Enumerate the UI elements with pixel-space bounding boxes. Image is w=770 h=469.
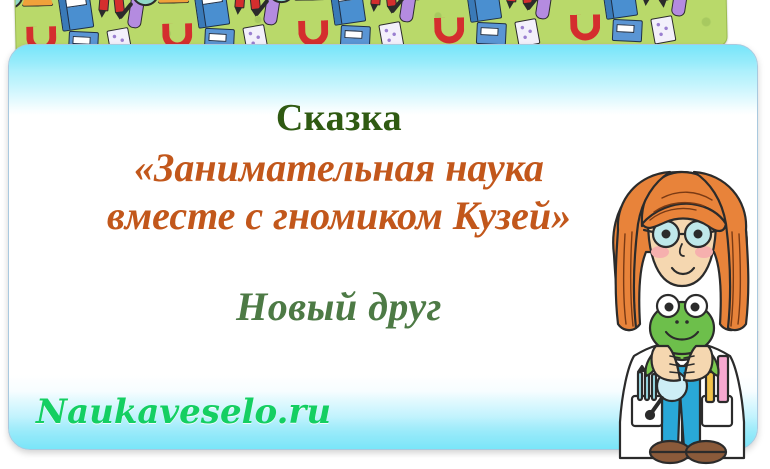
magnet-icon bbox=[434, 17, 465, 44]
flask-icon bbox=[157, 0, 190, 4]
pocket-pen bbox=[638, 372, 642, 400]
story-title: Новый друг bbox=[9, 285, 669, 330]
notebook-icon bbox=[465, 0, 502, 23]
paper-card-icon bbox=[650, 15, 676, 44]
marker-icon bbox=[234, 0, 246, 8]
notebook-icon bbox=[57, 0, 94, 32]
marker-icon bbox=[370, 0, 382, 5]
paper-card-icon bbox=[476, 22, 507, 45]
magnifier-knob bbox=[646, 411, 654, 419]
flask-icon bbox=[293, 0, 326, 1]
frog-pupil-left bbox=[665, 303, 674, 312]
pocket-pencil bbox=[706, 372, 714, 402]
frog-nostril bbox=[675, 320, 679, 324]
marker-icon bbox=[506, 0, 518, 2]
marker-icon bbox=[656, 0, 669, 1]
test-tube-icon bbox=[399, 0, 419, 23]
test-tube-icon bbox=[535, 0, 555, 20]
quote-line-2: вместе с гномиком Кузей» bbox=[9, 194, 669, 239]
slide-text-block: Сказка «Занимательная наука вместе с гно… bbox=[9, 97, 669, 330]
page-title: Сказка bbox=[9, 97, 669, 140]
flask-icon bbox=[21, 0, 54, 7]
site-watermark: Naukaveselo.ru bbox=[36, 392, 331, 432]
paper-card-icon bbox=[612, 19, 643, 42]
quote-line-1: «Занимательная наука bbox=[9, 146, 669, 191]
girl-scientist-illustration bbox=[592, 160, 770, 469]
pocket-ruler bbox=[718, 356, 728, 402]
notebook-icon bbox=[193, 0, 230, 29]
magnet-icon bbox=[570, 14, 601, 41]
marker-icon bbox=[98, 0, 110, 11]
slide-stage: Сказка «Занимательная наука вместе с гно… bbox=[0, 0, 770, 469]
eye-left bbox=[662, 230, 671, 239]
magnifier-icon bbox=[14, 0, 24, 9]
test-tube-icon bbox=[670, 0, 690, 17]
frog-nostril bbox=[685, 320, 689, 324]
eye-right bbox=[694, 230, 703, 239]
notebook-icon bbox=[601, 0, 638, 20]
magnet-icon bbox=[298, 20, 329, 47]
pocket-pen bbox=[652, 374, 656, 400]
notebook-icon bbox=[329, 0, 366, 26]
frog-pupil-right bbox=[691, 303, 700, 312]
